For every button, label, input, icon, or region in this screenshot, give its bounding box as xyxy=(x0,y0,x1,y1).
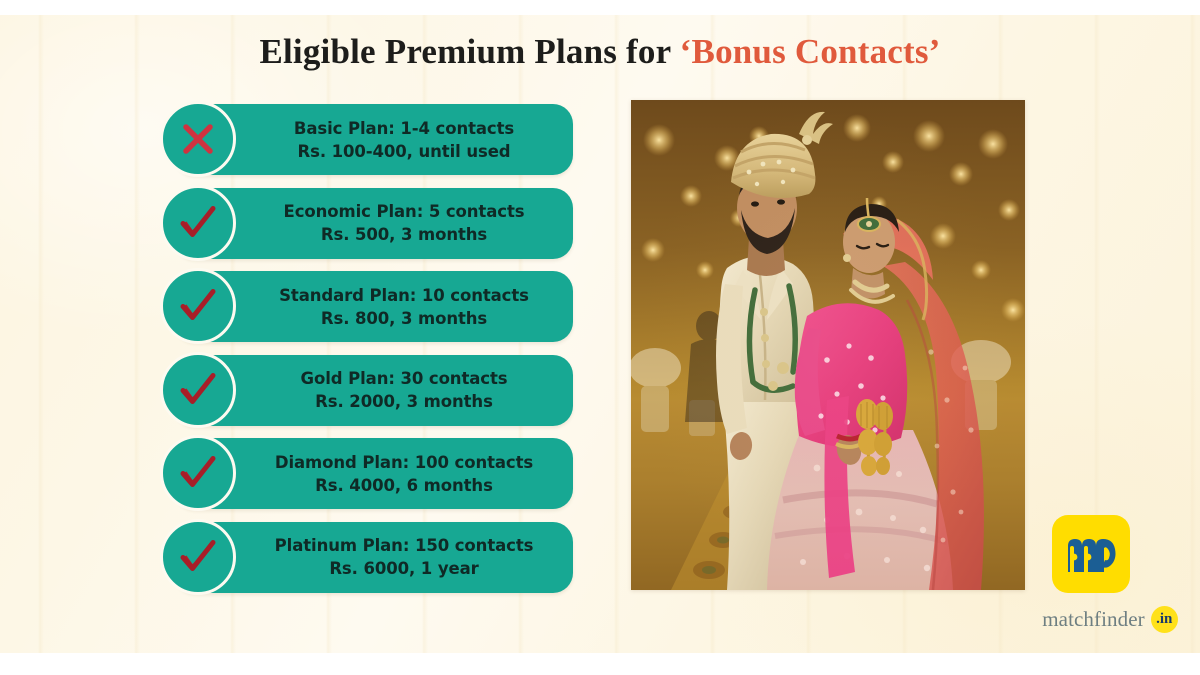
plan-row-standard[interactable]: Standard Plan: 10 contacts Rs. 800, 3 mo… xyxy=(160,271,575,342)
page-title-highlight: ‘Bonus Contacts’ xyxy=(680,32,941,71)
check-icon xyxy=(160,435,236,511)
plan-line-2: Rs. 500, 3 months xyxy=(321,223,487,246)
plan-line-1: Diamond Plan: 100 contacts xyxy=(275,451,533,474)
plan-line-1: Standard Plan: 10 contacts xyxy=(279,284,529,307)
plan-row-economic[interactable]: Economic Plan: 5 contacts Rs. 500, 3 mon… xyxy=(160,188,575,259)
check-icon xyxy=(160,268,236,344)
page-title-lead: Eligible Premium Plans for xyxy=(259,32,679,71)
plan-line-1: Economic Plan: 5 contacts xyxy=(284,200,525,223)
matchfinder-logo[interactable]: matchfinder .in xyxy=(1035,515,1185,633)
plan-row-basic[interactable]: Basic Plan: 1-4 contacts Rs. 100-400, un… xyxy=(160,104,575,175)
plan-line-2: Rs. 2000, 3 months xyxy=(315,390,493,413)
page-title: Eligible Premium Plans for ‘Bonus Contac… xyxy=(0,32,1200,72)
plan-line-1: Basic Plan: 1-4 contacts xyxy=(294,117,514,140)
check-icon xyxy=(160,352,236,428)
plan-line-1: Platinum Plan: 150 contacts xyxy=(275,534,534,557)
cross-icon xyxy=(160,101,236,177)
plan-line-1: Gold Plan: 30 contacts xyxy=(301,367,508,390)
logo-tld-badge: .in xyxy=(1151,606,1178,633)
plan-row-gold[interactable]: Gold Plan: 30 contacts Rs. 2000, 3 month… xyxy=(160,355,575,426)
plan-line-2: Rs. 100-400, until used xyxy=(298,140,511,163)
plan-row-platinum[interactable]: Platinum Plan: 150 contacts Rs. 6000, 1 … xyxy=(160,522,575,593)
check-icon xyxy=(160,519,236,595)
slide: Eligible Premium Plans for ‘Bonus Contac… xyxy=(0,0,1200,675)
matchfinder-wordmark: matchfinder .in xyxy=(1035,606,1185,633)
plan-line-2: Rs. 800, 3 months xyxy=(321,307,487,330)
plan-row-diamond[interactable]: Diamond Plan: 100 contacts Rs. 4000, 6 m… xyxy=(160,438,575,509)
logo-word: matchfinder xyxy=(1042,607,1145,632)
check-icon xyxy=(160,185,236,261)
plan-list: Basic Plan: 1-4 contacts Rs. 100-400, un… xyxy=(160,104,575,605)
plan-line-2: Rs. 4000, 6 months xyxy=(315,474,493,497)
plan-line-2: Rs. 6000, 1 year xyxy=(329,557,478,580)
matchfinder-mark-icon xyxy=(1052,515,1130,593)
wedding-couple-photo xyxy=(631,100,1025,590)
